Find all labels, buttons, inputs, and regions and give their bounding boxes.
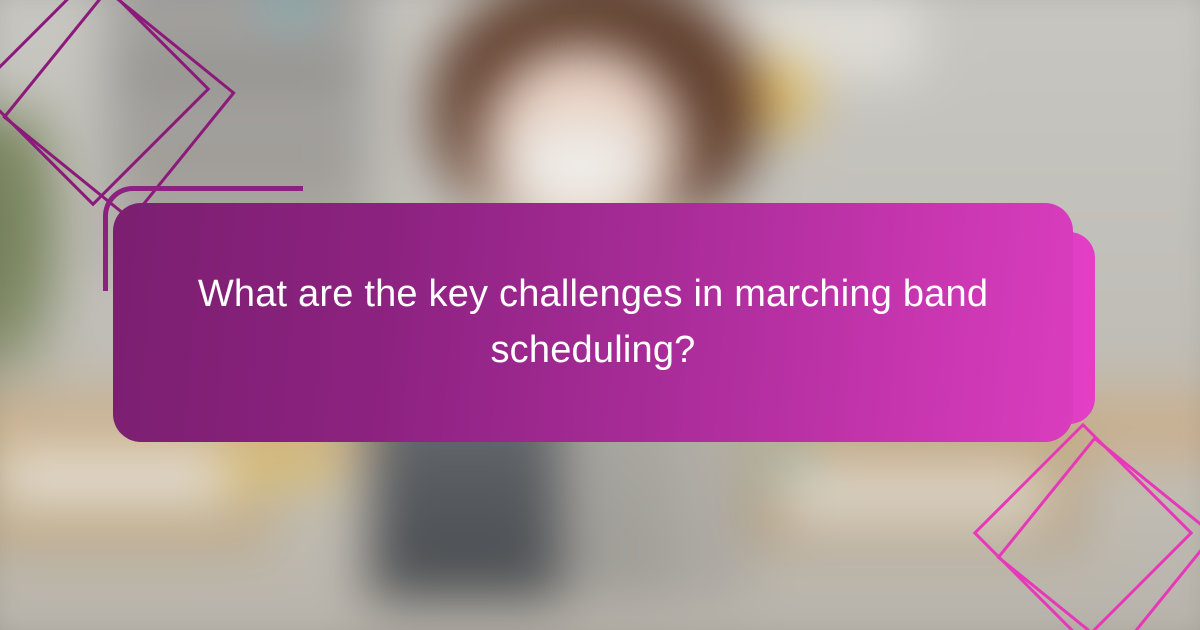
background-person-mask	[500, 120, 660, 215]
background-teal-blob	[760, 440, 812, 474]
page-title: What are the key challenges in marching …	[193, 267, 993, 377]
quote-card: What are the key challenges in marching …	[113, 203, 1073, 442]
background-yellow-blob	[220, 440, 340, 488]
screenshot-canvas: What are the key challenges in marching …	[0, 0, 1200, 630]
background-desk-left-top	[0, 452, 235, 504]
